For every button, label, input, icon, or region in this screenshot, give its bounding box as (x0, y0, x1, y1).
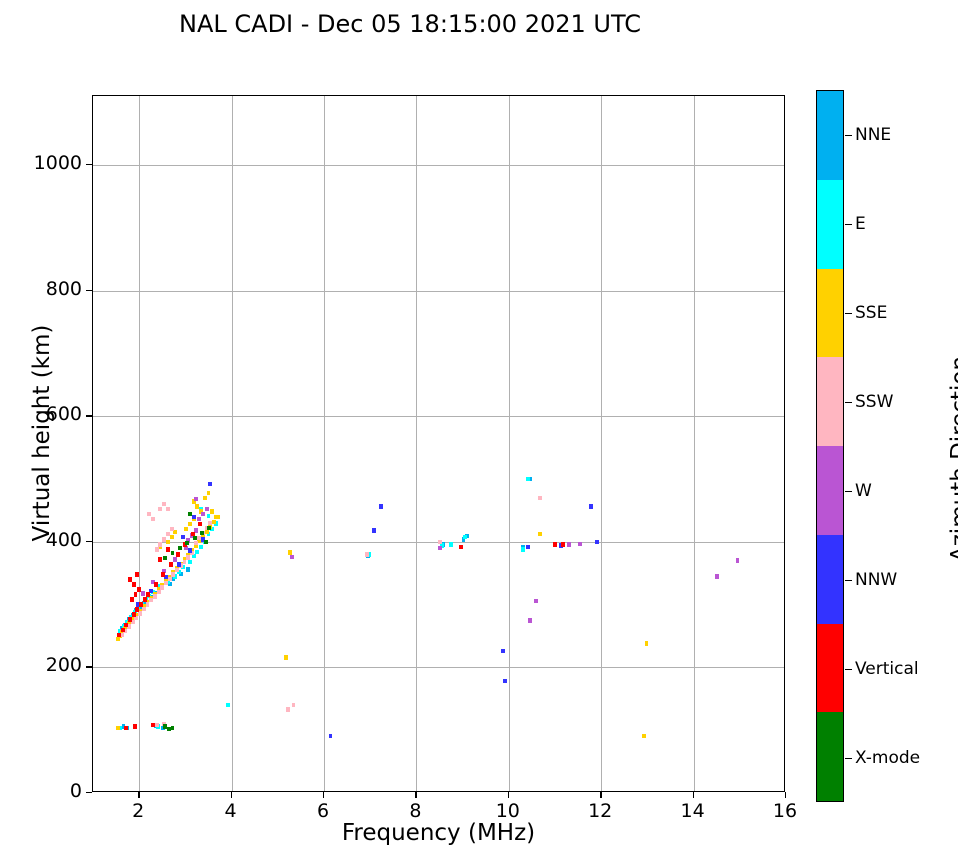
data-point (538, 496, 542, 500)
data-point (147, 512, 151, 516)
data-point (372, 528, 376, 532)
data-point (501, 649, 505, 653)
data-point (526, 545, 530, 549)
data-point (207, 514, 211, 518)
data-point (186, 555, 190, 559)
colorbar-tick-mark (845, 580, 852, 581)
x-tick-mark (323, 792, 324, 798)
data-point (181, 535, 185, 539)
data-point (197, 517, 201, 521)
data-point (134, 592, 138, 596)
data-point (204, 540, 208, 544)
data-point (292, 703, 296, 707)
data-point (135, 607, 139, 611)
data-point (168, 577, 172, 581)
data-point (171, 726, 175, 730)
data-point (184, 527, 188, 531)
data-point (171, 572, 175, 576)
data-point (534, 599, 538, 603)
x-tick-mark (600, 792, 601, 798)
data-point (124, 623, 128, 627)
data-point (195, 504, 199, 508)
data-point (207, 526, 211, 530)
data-point (164, 581, 168, 585)
colorbar-tick-mark (845, 224, 852, 225)
x-tick-mark (785, 792, 786, 798)
data-point (135, 572, 139, 576)
data-point (153, 594, 157, 598)
data-point (642, 734, 646, 738)
data-point (286, 707, 290, 711)
data-point (214, 515, 218, 519)
data-point (589, 504, 593, 508)
data-point (116, 726, 120, 730)
data-point (449, 542, 453, 546)
y-tick-label: 0 (12, 780, 82, 802)
data-point (160, 585, 164, 589)
data-point (146, 592, 150, 596)
data-point (188, 548, 192, 552)
y-tick-mark (86, 164, 92, 165)
data-point (365, 552, 369, 556)
data-point (162, 502, 166, 506)
page-title: NAL CADI - Dec 05 18:15:00 2021 UTC (0, 10, 820, 38)
data-point (329, 734, 333, 738)
data-point (459, 545, 463, 549)
data-point (117, 633, 121, 637)
data-point (166, 532, 170, 536)
data-point (158, 507, 162, 511)
data-point (142, 607, 146, 611)
data-point (192, 515, 196, 519)
data-point (463, 535, 467, 539)
data-point (178, 546, 182, 550)
data-point (207, 491, 211, 495)
data-point (139, 602, 143, 606)
colorbar-label-nnw: NNW (855, 570, 897, 590)
data-point (130, 597, 134, 601)
x-tick-label: 12 (570, 800, 630, 822)
colorbar-segment-ssw (817, 357, 843, 446)
data-point (198, 522, 202, 526)
scatter-data-layer (93, 96, 784, 791)
data-point (210, 509, 214, 513)
data-point (438, 540, 442, 544)
data-point (188, 512, 192, 516)
data-point (186, 567, 190, 571)
x-axis-label: Frequency (MHz) (92, 820, 785, 846)
data-point (167, 727, 171, 731)
data-point (132, 612, 136, 616)
data-point (175, 568, 179, 572)
data-point (194, 541, 198, 545)
data-point (155, 547, 159, 551)
data-point (226, 703, 230, 707)
data-point (163, 556, 167, 560)
data-point (205, 530, 209, 534)
colorbar-label-nne: NNE (855, 125, 891, 145)
colorbar-label-ssw: SSW (855, 392, 893, 412)
data-point (528, 618, 532, 622)
data-point (188, 522, 192, 526)
data-point (203, 496, 207, 500)
data-point (151, 723, 155, 727)
data-point (208, 482, 212, 486)
colorbar-tick-mark (845, 402, 852, 403)
data-point (171, 551, 175, 555)
x-tick-label: 8 (385, 800, 445, 822)
data-point (578, 542, 582, 546)
colorbar-segment-sse (817, 269, 843, 358)
data-point (503, 679, 507, 683)
data-point (137, 587, 141, 591)
x-tick-label: 4 (201, 800, 261, 822)
data-point (645, 641, 649, 645)
data-point (526, 477, 530, 481)
data-point (205, 507, 209, 511)
data-point (151, 517, 155, 521)
colorbar-label-sse: SSE (855, 303, 887, 323)
colorbar-segment-e (817, 180, 843, 269)
y-tick-mark (86, 666, 92, 667)
colorbar-tick-mark (845, 491, 852, 492)
data-point (143, 597, 147, 601)
x-tick-label: 10 (478, 800, 538, 822)
colorbar-tick-mark (845, 758, 852, 759)
data-point (201, 512, 205, 516)
x-tick-label: 6 (293, 800, 353, 822)
data-point (176, 552, 180, 556)
data-point (195, 550, 199, 554)
data-point (154, 582, 158, 586)
data-point (379, 504, 383, 508)
data-point (199, 545, 203, 549)
data-point (290, 555, 294, 559)
plot-area (92, 95, 785, 792)
colorbar-tick-mark (845, 669, 852, 670)
colorbar-title: Azimuth Direction (947, 289, 958, 629)
data-point (158, 542, 162, 546)
data-point (133, 724, 137, 728)
x-tick-label: 14 (663, 800, 723, 822)
x-tick-mark (231, 792, 232, 798)
colorbar-segment-vertical (817, 624, 843, 713)
x-tick-label: 16 (755, 800, 815, 822)
x-tick-label: 2 (108, 800, 168, 822)
data-point (538, 532, 542, 536)
x-tick-mark (508, 792, 509, 798)
colorbar-tick-mark (845, 313, 852, 314)
data-point (200, 531, 204, 535)
data-point (208, 521, 212, 525)
data-point (188, 560, 192, 564)
colorbar-label-vertical: Vertical (855, 659, 919, 679)
data-point (438, 546, 442, 550)
colorbar (816, 90, 844, 802)
data-point (715, 574, 719, 578)
data-point (124, 726, 128, 730)
data-point (567, 542, 571, 546)
data-point (284, 655, 288, 659)
data-point (146, 602, 150, 606)
y-tick-mark (86, 290, 92, 291)
data-point (158, 557, 162, 561)
data-point (212, 520, 216, 524)
data-point (736, 558, 740, 562)
data-point (521, 547, 525, 551)
colorbar-label-e: E (855, 214, 866, 234)
y-tick-label: 200 (12, 654, 82, 676)
data-point (170, 527, 174, 531)
data-point (121, 628, 125, 632)
data-point (138, 611, 142, 615)
data-point (157, 590, 161, 594)
data-point (141, 591, 145, 595)
data-point (595, 540, 599, 544)
data-point (128, 617, 132, 621)
data-point (170, 535, 174, 539)
data-point (183, 560, 187, 564)
data-point (128, 577, 132, 581)
y-tick-mark (86, 792, 92, 793)
y-tick-label: 1000 (12, 152, 82, 174)
x-tick-mark (693, 792, 694, 798)
data-point (193, 536, 197, 540)
data-point (166, 507, 170, 511)
data-point (561, 542, 565, 546)
ionogram-figure: NAL CADI - Dec 05 18:15:00 2021 UTC 2468… (0, 0, 958, 857)
colorbar-label-x-mode: X-mode (855, 748, 920, 768)
x-tick-mark (415, 792, 416, 798)
y-tick-mark (86, 541, 92, 542)
data-point (169, 562, 173, 566)
data-point (173, 530, 177, 534)
data-point (149, 598, 153, 602)
data-point (194, 497, 198, 501)
data-point (177, 562, 181, 566)
colorbar-segment-x-mode (817, 712, 843, 801)
colorbar-segment-nnw (817, 535, 843, 624)
data-point (553, 542, 557, 546)
data-point (155, 723, 159, 727)
colorbar-label-w: W (855, 481, 872, 501)
colorbar-segment-nne (817, 91, 843, 180)
data-point (162, 537, 166, 541)
data-point (161, 572, 165, 576)
data-point (173, 557, 177, 561)
colorbar-segment-w (817, 446, 843, 535)
data-point (185, 541, 189, 545)
x-tick-mark (138, 792, 139, 798)
data-point (166, 547, 170, 551)
data-point (132, 582, 136, 586)
y-tick-mark (86, 415, 92, 416)
data-point (166, 540, 170, 544)
y-axis-label: Virtual height (km) (29, 233, 55, 633)
colorbar-tick-mark (845, 135, 852, 136)
